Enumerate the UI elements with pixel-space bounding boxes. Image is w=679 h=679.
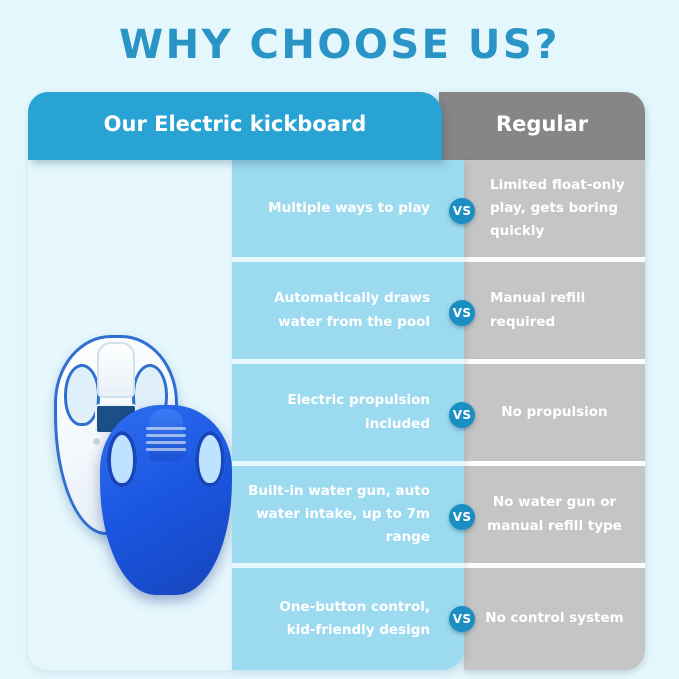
column-header-ours-label: Our Electric kickboard	[28, 112, 442, 136]
blue-kickboard	[100, 405, 232, 595]
page-title: WHY CHOOSE US?	[0, 22, 679, 68]
vs-badge: VS	[449, 198, 475, 224]
table-row: No control system	[464, 568, 645, 670]
grip-lines-icon	[146, 427, 186, 453]
column-ours: Multiple ways to play Automatically draw…	[232, 160, 464, 670]
table-row: Manual refill required	[464, 262, 645, 364]
column-regular: Limited float-only play, gets boring qui…	[464, 160, 645, 670]
vs-badge: VS	[449, 606, 475, 632]
table-row: Automatically draws water from the pool	[232, 262, 464, 364]
table-row: Built-in water gun, auto water intake, u…	[232, 466, 464, 568]
cell-ours-text: Built-in water gun, auto water intake, u…	[246, 480, 430, 550]
cell-regular-text: No control system	[485, 607, 623, 630]
cell-ours-text: One-button control, kid-friendly design	[246, 596, 430, 642]
table-row: Multiple ways to play	[232, 160, 464, 262]
cell-regular-text: No propulsion	[501, 401, 607, 424]
cell-ours-text: Automatically draws water from the pool	[246, 287, 430, 333]
column-header-ours: Our Electric kickboard	[28, 92, 442, 160]
vs-badge: VS	[449, 300, 475, 326]
column-header-regular: Regular	[439, 92, 645, 160]
cell-ours-text: Multiple ways to play	[268, 197, 430, 220]
table-row: No propulsion	[464, 364, 645, 466]
handle-left-icon	[107, 431, 137, 487]
cell-regular-text: Limited float-only play, gets boring qui…	[490, 174, 631, 244]
cell-regular-text: Manual refill required	[490, 287, 631, 333]
board-neck	[97, 342, 135, 398]
table-row: One-button control, kid-friendly design	[232, 568, 464, 670]
table-row: Electric propulsion included	[232, 364, 464, 466]
product-image	[38, 335, 234, 635]
vs-badge: VS	[449, 504, 475, 530]
comparison-table: Regular Our Electric kickboard Multiple …	[28, 92, 645, 670]
handle-right-icon	[195, 431, 225, 487]
vs-badge: VS	[449, 402, 475, 428]
table-row: No water gun or manual refill type	[464, 466, 645, 568]
column-header-regular-label: Regular	[439, 112, 645, 136]
cell-ours-text: Electric propulsion included	[246, 389, 430, 435]
cell-regular-text: No water gun or manual refill type	[480, 491, 629, 537]
table-row: Limited float-only play, gets boring qui…	[464, 160, 645, 262]
product-panel	[28, 160, 232, 670]
